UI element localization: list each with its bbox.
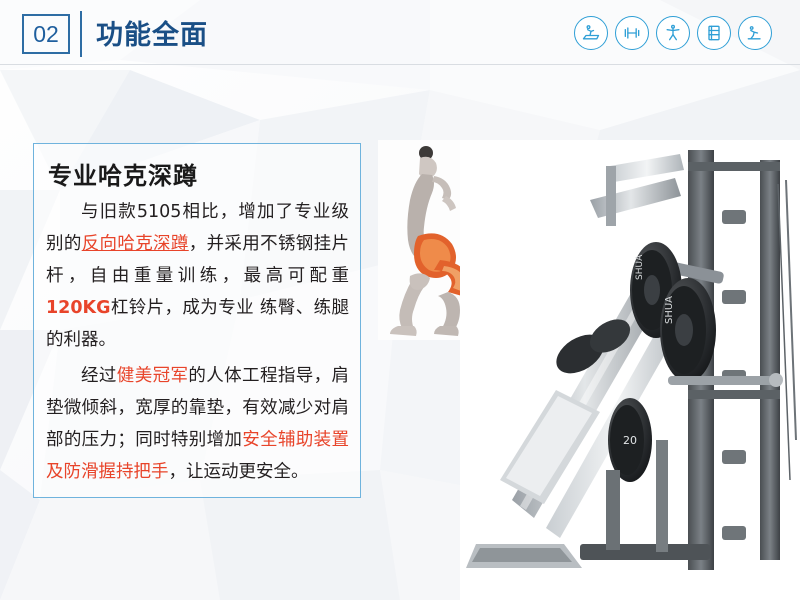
card-body: 与旧款5105相比，增加了专业级别的反向哈克深蹲，并采用不锈钢挂片杆，自由重量训… [46,196,349,492]
paragraph-1: 与旧款5105相比，增加了专业级别的反向哈克深蹲，并采用不锈钢挂片杆，自由重量训… [46,196,349,356]
paragraph-2: 经过健美冠军的人体工程指导，肩垫微倾斜，宽厚的靠垫，有效减少对肩部的压力；同时特… [46,360,349,488]
hack-squat-machine-photo: SHUA SHUA 20 [460,140,800,600]
header-rule [0,64,800,65]
stretching-person-icon [656,16,690,50]
text-segment: ，让运动更安全。 [169,462,309,482]
weight-rack-icon [697,16,731,50]
dumbbell-icon [615,16,649,50]
svg-text:SHUA: SHUA [664,296,675,324]
text-segment-highlight: 120KG [46,298,110,318]
text-segment-highlight: 健美冠军 [117,366,189,386]
section-number: 02 [33,21,59,48]
page-title: 功能全面 [96,13,208,52]
text-segment-highlight: 反向哈克深蹲 [82,234,189,254]
slide: 02 功能全面 [0,0,800,600]
product-imagery: SHUA SHUA 20 [370,120,800,600]
card-title: 专业哈克深蹲 [48,156,198,191]
rowing-machine-icon [738,16,772,50]
text-segment: 经过 [81,366,117,386]
header-icon-strip [574,16,772,50]
feature-text-card: 专业哈克深蹲 与旧款5105相比，增加了专业级别的反向哈克深蹲，并采用不锈钢挂片… [33,143,361,498]
section-number-box: 02 [22,14,70,54]
treadmill-icon [574,16,608,50]
header-divider [80,11,82,57]
plate-weight-label: 20 [623,434,637,447]
slide-header: 02 功能全面 [0,0,800,64]
machine-brand-text: SHUA [635,254,645,280]
